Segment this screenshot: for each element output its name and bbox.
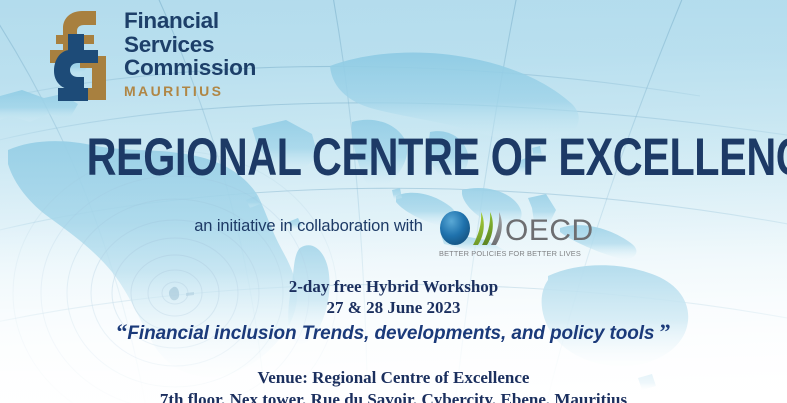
collaboration-label: an initiative in collaboration with (194, 217, 423, 250)
workshop-info: 2-day free Hybrid Workshop 27 & 28 June … (0, 276, 787, 319)
quote-close-mark: ” (660, 319, 671, 344)
fsc-logo-wordmark: Financial Services Commission MAURITIUS (124, 6, 256, 98)
fsc-word-commission: Commission (124, 57, 256, 80)
fsc-word-services: Services (124, 34, 256, 57)
fsc-word-financial: Financial (124, 10, 256, 33)
workshop-theme: “Financial inclusion Trends, development… (0, 319, 787, 345)
venue-info: Venue: Regional Centre of Excellence 7th… (0, 367, 787, 403)
venue-address: 7th floor, Nex tower, Rue du Savoir, Cyb… (0, 389, 787, 403)
event-poster: Financial Services Commission MAURITIUS … (0, 0, 787, 403)
oecd-tagline: BETTER POLICIES FOR BETTER LIVES (439, 249, 581, 258)
collaboration-row: an initiative in collaboration with (0, 206, 787, 260)
fsc-word-mauritius: MAURITIUS (124, 84, 256, 98)
quote-open-mark: “ (116, 319, 127, 344)
workshop-dates: 27 & 28 June 2023 (0, 297, 787, 318)
quote-text: Financial inclusion Trends, developments… (127, 323, 654, 344)
venue-name: Venue: Regional Centre of Excellence (258, 368, 530, 387)
svg-text:OECD: OECD (505, 214, 593, 247)
oecd-logo-icon: OECD BETTER POLICIES FOR BETTER LIVES (437, 206, 593, 260)
page-title: REGIONAL CENTRE OF EXCELLENCE (87, 131, 701, 184)
workshop-title: 2-day free Hybrid Workshop (289, 277, 499, 296)
fsc-logo: Financial Services Commission MAURITIUS (40, 6, 256, 106)
fsc-monogram-icon (40, 6, 114, 106)
